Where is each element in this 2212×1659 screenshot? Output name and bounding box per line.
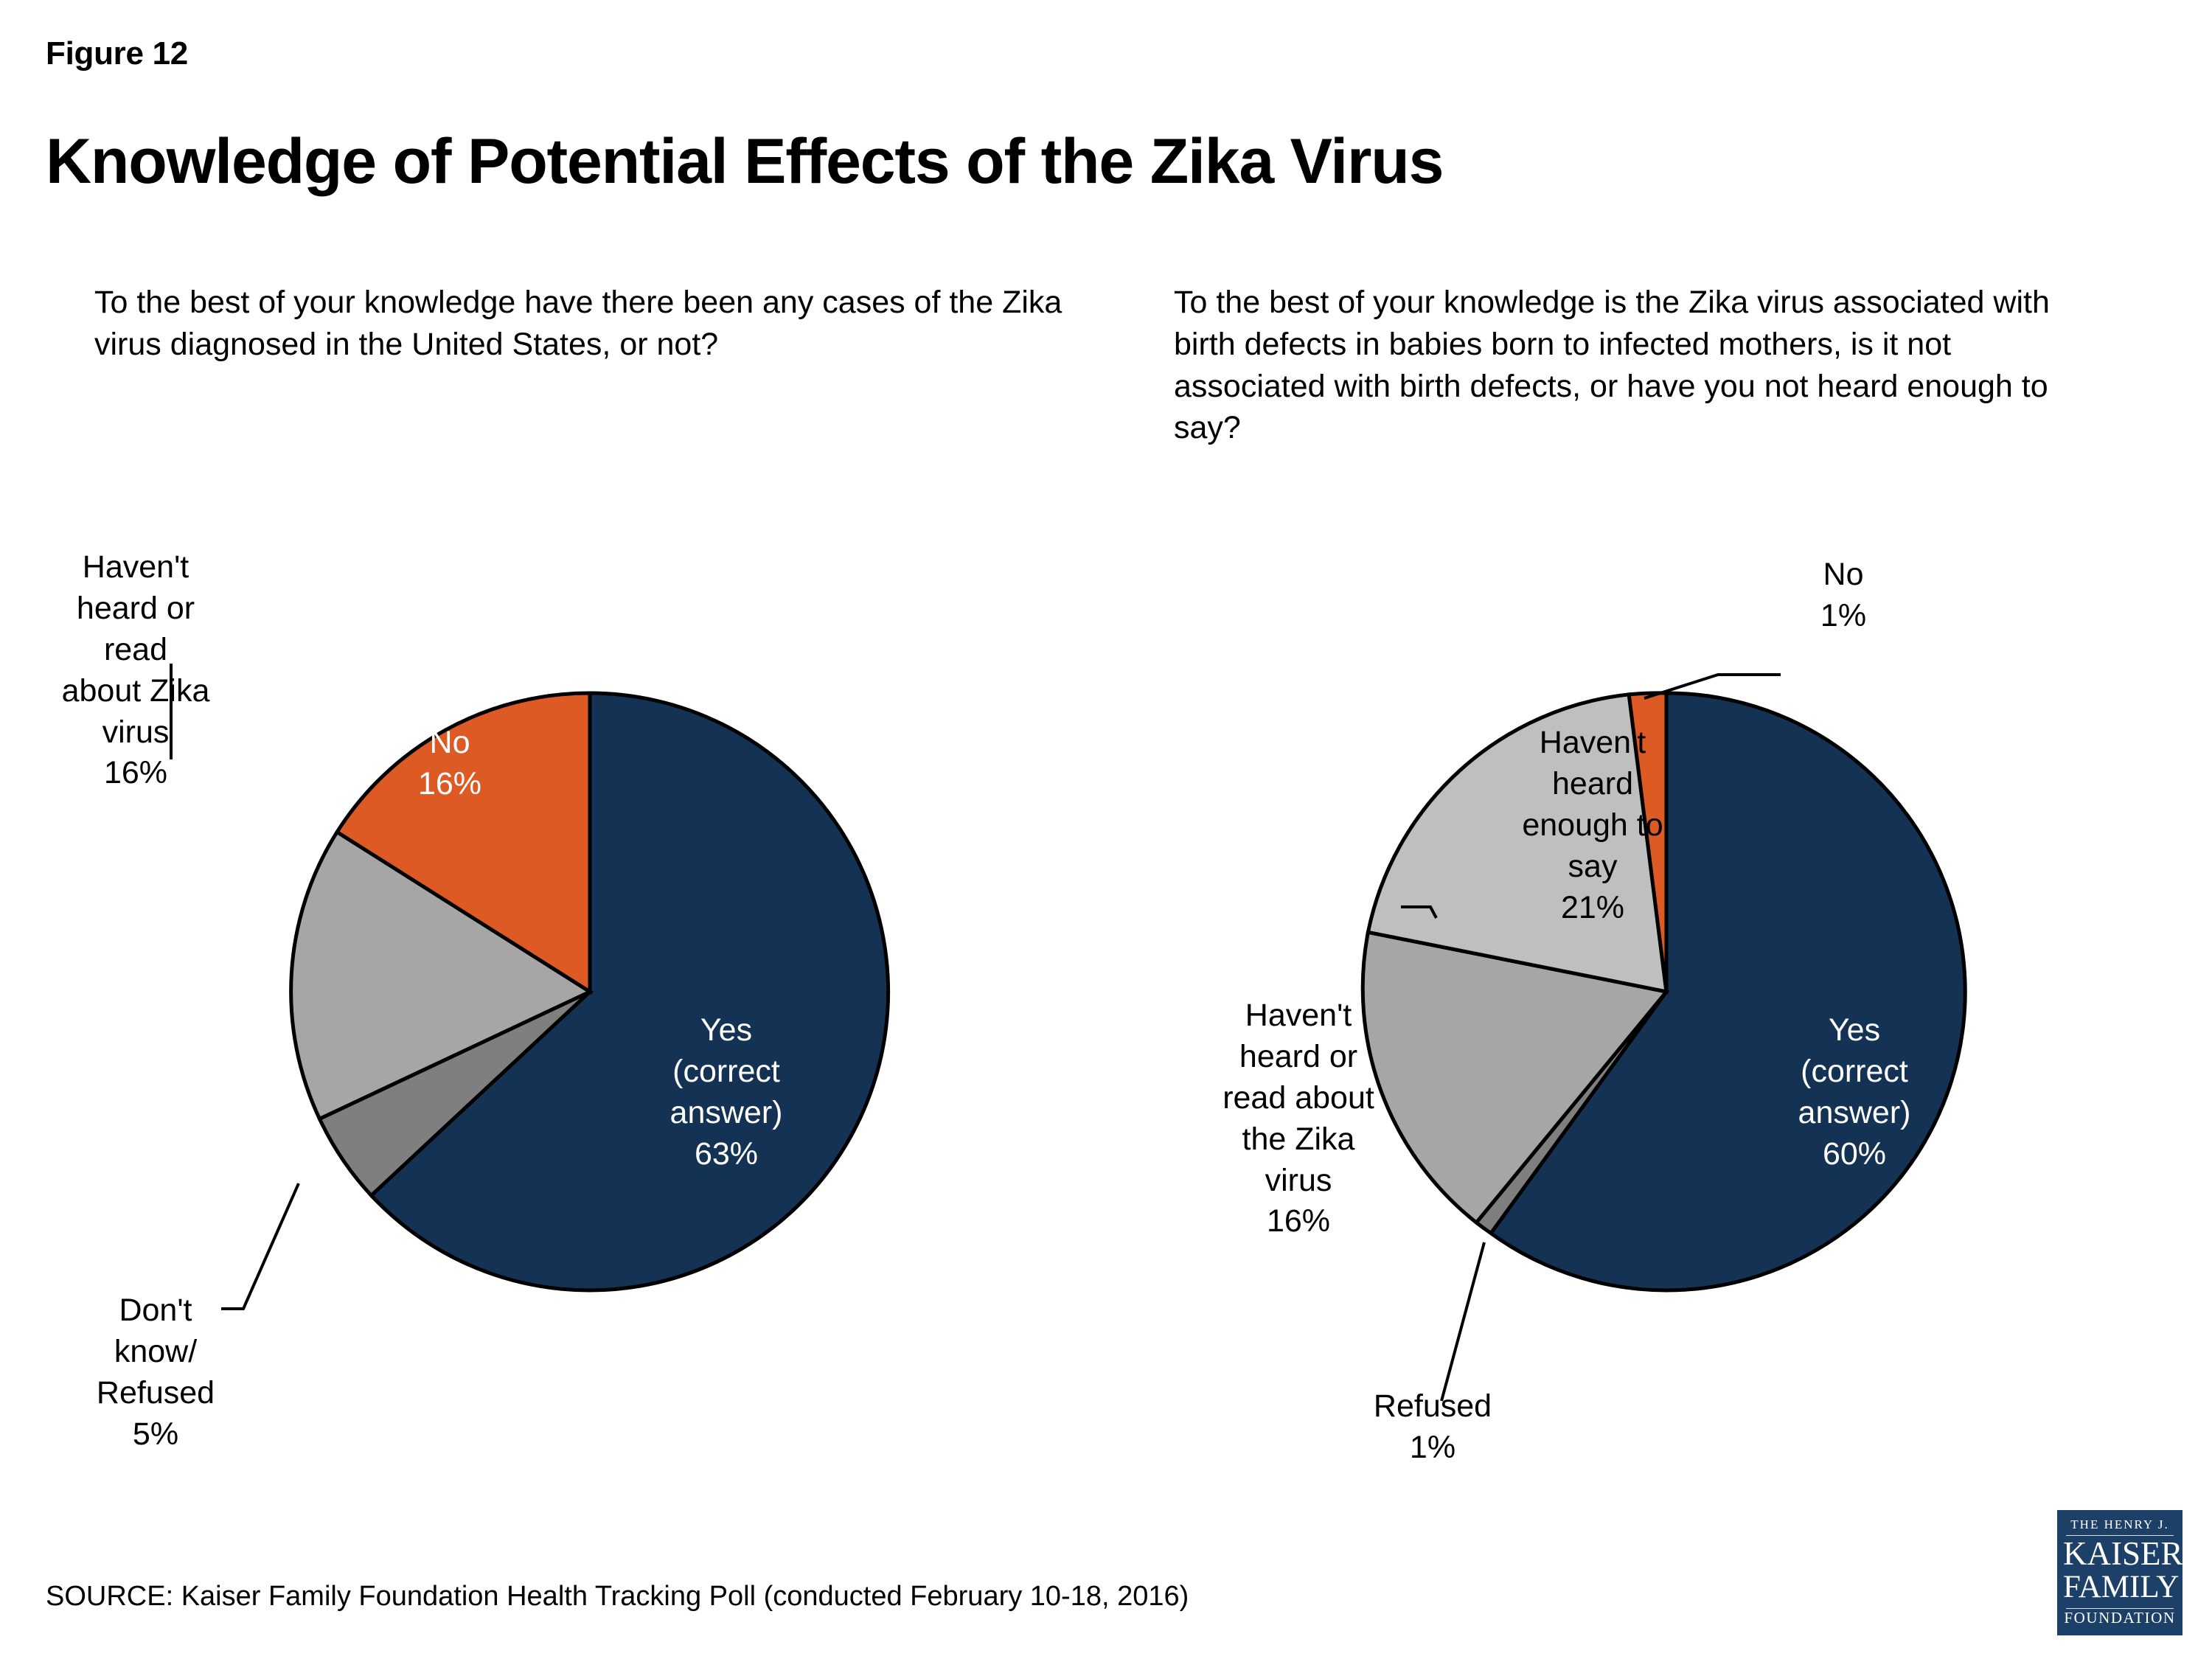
pie-label-no-right: No 1% [1762, 554, 1924, 637]
question-text-right: To the best of your knowledge is the Zik… [1174, 282, 2059, 449]
page-title: Knowledge of Potential Effects of the Zi… [46, 125, 1443, 198]
pie-label-dont-know-left: Don't know/ Refused 5% [49, 1290, 262, 1455]
pie-label-yes-left: Yes (correct answer) 63% [605, 1010, 848, 1175]
slide-canvas: Figure 12 Knowledge of Potential Effects… [0, 0, 2212, 1659]
kaiser-family-foundation-logo: THE HENRY J. KAISER FAMILY FOUNDATION [2057, 1510, 2183, 1635]
pie-label-yes-right: Yes (correct answer) 60% [1733, 1010, 1976, 1175]
logo-line-kaiser: KAISER [2063, 1537, 2177, 1571]
pie-label-havent-heard-read-right: Haven't heard or read about the Zika vir… [1162, 995, 1435, 1242]
figure-label: Figure 12 [46, 35, 188, 72]
pie-label-havent-heard-left: Haven't heard or read about Zika virus 1… [18, 547, 254, 794]
source-note: SOURCE: Kaiser Family Foundation Health … [46, 1581, 1189, 1613]
logo-line-henry-j: THE HENRY J. [2063, 1518, 2177, 1531]
pie-label-havent-heard-enough-right: Haven't heard enough to say 21% [1467, 723, 1718, 928]
pie-label-refused-right: Refused 1% [1340, 1386, 1525, 1469]
logo-line-family: FAMILY [2063, 1571, 2177, 1604]
leader-line-refused-right [1441, 1242, 1484, 1401]
logo-line-foundation: FOUNDATION [2063, 1610, 2177, 1626]
pie-label-no-left: No 16% [369, 723, 531, 805]
question-text-left: To the best of your knowledge have there… [94, 282, 1075, 366]
